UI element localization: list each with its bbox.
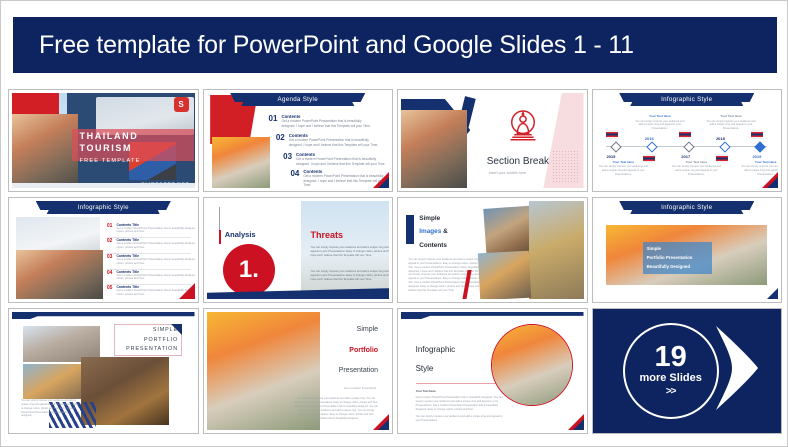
analysis-heading: Threats (311, 230, 344, 240)
timeline-flag-3 (679, 130, 691, 139)
more-slides-count: 19 (655, 344, 687, 372)
simple-images-title-line1: Simple (419, 215, 440, 222)
slide-thumbnail-plane-infographic[interactable]: Infographic Style 01 Contents Title Get … (8, 197, 199, 303)
simple-images-photo-2 (529, 201, 584, 299)
timeline-year-4: 2018 (716, 136, 725, 141)
infographic-style-title-line1: Infographic (416, 345, 456, 354)
cover-title-line2: TOURISM (80, 143, 133, 153)
analysis-body-1: You can simply impress your audience and… (311, 246, 389, 259)
template-preview-page: Free template for PowerPoint and Google … (0, 0, 788, 447)
more-slides-background: 19 more Slides >> (593, 309, 782, 433)
temple-portfolio-subtitle: Get a modern PowerPoint (344, 386, 376, 390)
analysis-body-2: You can simply impress your audience and… (311, 270, 389, 283)
infographic-style-circle-photo (491, 324, 573, 406)
slide-thumbnail-portfolio-infographic[interactable]: Infographic Style Simple Portfolio Prese… (592, 197, 783, 303)
plane-corner-red (179, 283, 195, 299)
plane-item-4-number: 04 (107, 270, 113, 282)
plane-item-2-number: 02 (107, 238, 113, 250)
agenda-item-3-body: Get a modern PowerPoint Presentation tha… (296, 157, 389, 166)
page-title: Free template for PowerPoint and Google … (39, 31, 634, 60)
infographic-style-topbar (401, 312, 584, 319)
agenda-item-4-number: 04 (290, 169, 299, 178)
plane-item-2[interactable]: 02 Contents Title Get a modern PowerPoin… (107, 238, 195, 250)
portfolio-ribbon-label: Infographic Style (661, 204, 712, 211)
agenda-item-3-number: 03 (283, 152, 292, 161)
timeline-heading-1: Your Text Here (597, 160, 649, 164)
plane-item-2-body: Get a modern PowerPoint Presentation tha… (116, 242, 194, 250)
agenda-photo (212, 137, 270, 188)
arrow-right-icon[interactable] (714, 324, 760, 412)
agenda-item-2[interactable]: 02 Contents Get a modern PowerPoint Pres… (276, 133, 383, 147)
cover-subtitle: FREE TEMPLATE (80, 158, 141, 164)
cover-title-line1: THAILAND (80, 131, 139, 141)
timeline-node-5[interactable] (754, 142, 765, 153)
timeline-year-1: 2015 (606, 154, 615, 159)
analysis-label: Analysis (225, 230, 256, 239)
plane-item-3-number: 03 (107, 254, 113, 266)
plane-item-4[interactable]: 04 Contents Title Get a modern PowerPoin… (107, 270, 195, 282)
more-slides-chevron-icon: >> (666, 386, 676, 397)
simple-images-title-line2-suffix: & (443, 228, 448, 235)
section-break-dot-pattern (552, 150, 578, 182)
portfolio-overlay-line1: Simple (647, 246, 661, 251)
section-break-subtitle: Insert your subtitle here (489, 171, 527, 175)
slide-grid: THAILAND TOURISM FREE TEMPLATE S SLIDESP… (8, 89, 782, 434)
simple-images-title-line2: Images & (419, 228, 447, 235)
simple-portfolio-title-line2: PORTFLIO (108, 337, 178, 343)
cover-tourists-photo (12, 114, 78, 188)
timeline-body-2: You can simply impress your audience and… (634, 120, 686, 132)
timeline-node-4[interactable] (720, 142, 731, 153)
infographic-style-title-line2: Style (416, 364, 434, 373)
simple-images-body: You can simply impress your audience and… (408, 258, 486, 293)
agenda-item-3[interactable]: 03 Contents Get a modern PowerPoint Pres… (283, 152, 389, 166)
page-title-banner: Free template for PowerPoint and Google … (13, 17, 777, 73)
portfolio-overlay-line2: Portfolio Presentation (647, 255, 693, 260)
timeline-flag-5 (751, 130, 763, 139)
plane-item-4-body: Get a modern PowerPoint Presentation tha… (116, 274, 194, 282)
agenda-item-2-body: Get a modern PowerPoint Presentation tha… (289, 138, 383, 147)
section-break-title: Section Break (487, 156, 549, 167)
plane-item-1-body: Get a modern PowerPoint Presentation tha… (116, 227, 194, 235)
slide-thumbnail-timeline-infographic[interactable]: Infographic Style 2015 2016 2017 2018 20… (592, 89, 783, 192)
slide-thumbnail-infographic-style[interactable]: Infographic Style Your Text Here Get a m… (397, 308, 588, 434)
temple-portfolio-title-line2: Portfolio (349, 347, 378, 354)
simple-images-photo-3 (478, 251, 531, 299)
timeline-ribbon-label: Infographic Style (661, 96, 712, 103)
analysis-red-line (219, 230, 221, 244)
slide-thumbnail-agenda[interactable]: Agenda Style 01 Contents Get a modern Po… (203, 89, 394, 192)
plane-item-3-body: Get a modern PowerPoint Presentation tha… (116, 258, 194, 266)
slidesppt-logo-icon: S (174, 97, 189, 112)
plane-travelers-photo (16, 250, 104, 299)
timeline-heading-4: Your Text Here (705, 114, 757, 118)
infographic-style-body-2: You can simply impress your audience and… (416, 415, 508, 423)
infographic-style-heading: Your Text Here (416, 389, 436, 393)
plane-item-1[interactable]: 01 Contents Title Get a modern PowerPoin… (107, 223, 195, 235)
more-slides-circle[interactable]: 19 more Slides >> (623, 323, 719, 419)
temple-portfolio-body: You can simply impress your audience and… (294, 397, 378, 421)
plane-item-1-number: 01 (107, 223, 113, 235)
simple-portfolio-title-line3: PRESENTATION (108, 346, 178, 352)
agenda-item-1-number: 01 (269, 114, 278, 123)
slide-thumbnail-section-break[interactable]: Section Break Insert your subtitle here (397, 89, 588, 192)
slide-thumbnail-temple-portfolio[interactable]: Simple Portfolio Presentation Get a mode… (203, 308, 394, 434)
timeline-ribbon: Infographic Style (630, 93, 743, 106)
infographic-style-corner-navy (573, 419, 584, 430)
plane-item-3[interactable]: 03 Contents Title Get a modern PowerPoin… (107, 254, 195, 266)
simple-images-title-line2-word: Images (419, 228, 441, 235)
timeline-body-1: You can simply impress your audience and… (597, 165, 649, 177)
agenda-item-2-number: 02 (276, 133, 285, 142)
timeline-year-5: 2019 (752, 154, 761, 159)
plane-ribbon: Infographic Style (47, 201, 160, 214)
timeline-node-2[interactable] (647, 142, 658, 153)
slide-thumbnail-more-slides[interactable]: 19 more Slides >> (592, 308, 783, 434)
slide-thumbnail-analysis[interactable]: Analysis 1. Threats You can simply impre… (203, 197, 394, 303)
timeline-heading-5: Your Text Here (740, 160, 778, 164)
timeline-corner-navy (767, 177, 778, 188)
temple-portfolio-title-line1: Simple (357, 326, 378, 333)
timeline-heading-2: Your Text Here (634, 114, 686, 118)
more-slides-label: more Slides (639, 372, 701, 384)
simple-portfolio-body: You can simply impress your audience and… (21, 399, 79, 418)
simple-portfolio-topbar (12, 312, 195, 319)
temple-portfolio-title-line3: Presentation (339, 367, 378, 374)
timeline-flag-1 (606, 130, 618, 139)
slide-thumbnail-simple-portfolio[interactable]: SIMPLE PORTFLIO PRESENTATION You can sim… (8, 308, 199, 434)
slide-thumbnail-simple-images-contents[interactable]: Simple Images & Contents You can simply … (397, 197, 588, 303)
agenda-item-1[interactable]: 01 Contents Get a modern PowerPoint Pres… (269, 114, 376, 128)
portfolio-ribbon: Infographic Style (630, 201, 743, 214)
temple-portfolio-corner-navy (378, 419, 389, 430)
timeline-node-3[interactable] (683, 142, 694, 153)
portfolio-corner-navy (767, 288, 778, 299)
agenda-ribbon: Agenda Style (241, 93, 354, 106)
agenda-item-1-body: Get a modern PowerPoint Presentation tha… (281, 119, 375, 128)
agenda-corner-navy (378, 177, 389, 188)
buddha-icon (503, 106, 543, 146)
timeline-body-3: You can simply impress your audience and… (670, 165, 722, 177)
simple-images-navy-bar (406, 215, 413, 244)
timeline-year-2: 2016 (645, 136, 654, 141)
timeline-body-4: You can simply impress your audience and… (705, 120, 757, 132)
plane-item-5-number: 05 (107, 285, 113, 297)
plane-ribbon-label: Infographic Style (78, 204, 129, 211)
simple-portfolio-title-line1: SIMPLE (108, 327, 178, 333)
agenda-ribbon-label: Agenda Style (278, 96, 318, 103)
timeline-node-1[interactable] (610, 142, 621, 153)
cover-footer-text: SLIDESPPT.NET (141, 181, 189, 186)
simple-images-title-line3: Contents (419, 242, 447, 249)
timeline-year-3: 2017 (681, 154, 690, 159)
timeline-heading-3: Your Text Here (670, 160, 722, 164)
section-break-photo (401, 110, 467, 188)
portfolio-overlay-line3: Beautifully Designed (647, 264, 690, 269)
analysis-number-circle: 1. (223, 244, 275, 296)
slide-thumbnail-cover[interactable]: THAILAND TOURISM FREE TEMPLATE S SLIDESP… (8, 89, 199, 192)
